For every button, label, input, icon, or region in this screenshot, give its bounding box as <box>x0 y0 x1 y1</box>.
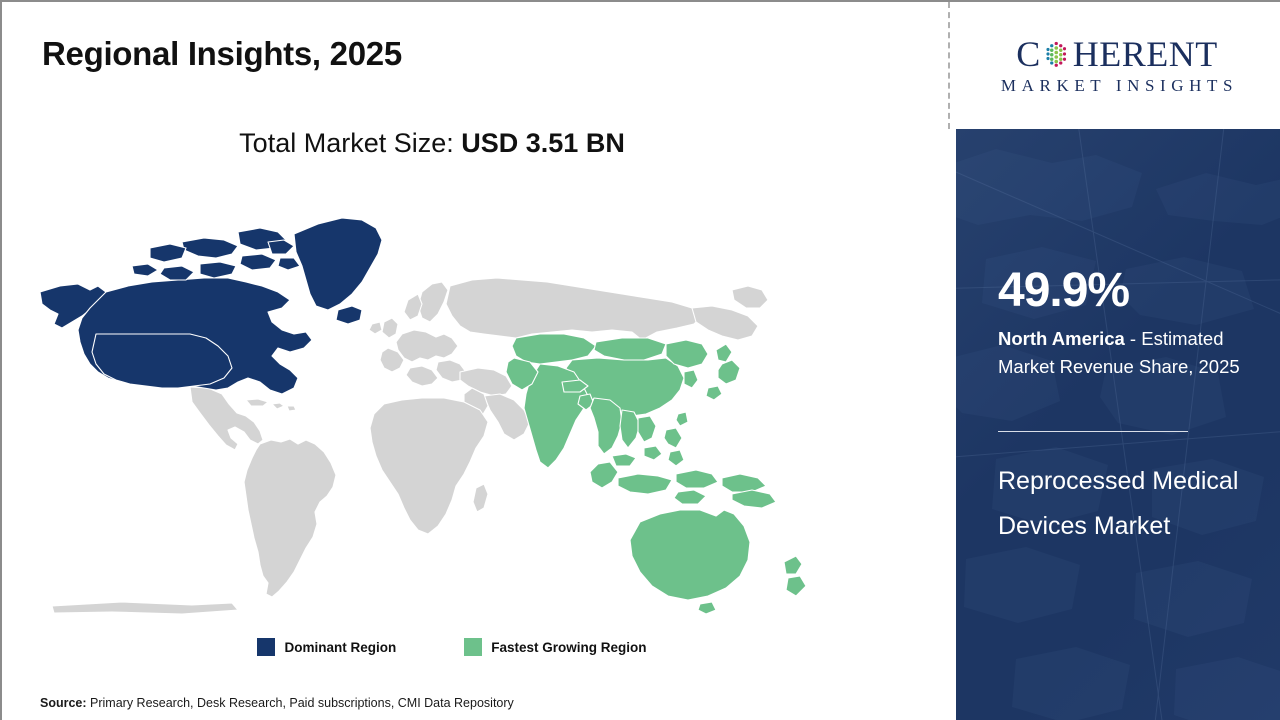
map-region-north-america <box>40 218 382 394</box>
source-text: Primary Research, Desk Research, Paid su… <box>87 696 514 710</box>
source-note: Source: Primary Research, Desk Research,… <box>40 696 514 710</box>
navy-square-icon <box>257 638 275 656</box>
logo-letter-c: C <box>1016 36 1041 72</box>
market-name: Reprocessed Medical Devices Market <box>998 459 1270 549</box>
stat-region-name: North America <box>998 328 1125 349</box>
world-map-svg <box>32 182 842 617</box>
market-size-label: Total Market Size: <box>239 128 454 158</box>
logo-tagline: MARKET INSIGHTS <box>996 76 1238 96</box>
regional-insights-infographic: Regional Insights, 2025 Total Market Siz… <box>0 0 1280 720</box>
left-content-panel: Regional Insights, 2025 Total Market Siz… <box>2 2 950 720</box>
logo-letters-herent: HERENT <box>1073 36 1218 72</box>
legend-label-dominant: Dominant Region <box>284 640 396 655</box>
green-square-icon <box>464 638 482 656</box>
page-title: Regional Insights, 2025 <box>42 35 402 73</box>
source-label: Source: <box>40 696 87 710</box>
brand-logo: C <box>952 2 1280 129</box>
globe-dots-icon <box>1042 39 1072 69</box>
legend-item-fastest-growing: Fastest Growing Region <box>464 638 646 656</box>
total-market-size: Total Market Size: USD 3.51 BN <box>2 128 862 159</box>
stat-description: North America - Estimated Market Revenue… <box>998 325 1266 381</box>
logo-wordmark: C <box>1016 36 1218 72</box>
vertical-dashed-divider <box>948 2 950 129</box>
legend-item-dominant: Dominant Region <box>257 638 396 656</box>
legend-label-fastest-growing: Fastest Growing Region <box>491 640 646 655</box>
world-map-container <box>32 182 842 617</box>
stat-percentage: 49.9% <box>998 267 1129 315</box>
map-legend: Dominant Region Fastest Growing Region <box>2 638 902 656</box>
market-size-value: USD 3.51 BN <box>461 128 625 158</box>
stat-panel-divider <box>998 431 1188 432</box>
map-region-asia-pacific <box>506 334 806 614</box>
stat-panel-content: 49.9% North America - Estimated Market R… <box>998 129 1266 720</box>
regional-stat-panel: 49.9% North America - Estimated Market R… <box>956 129 1280 720</box>
